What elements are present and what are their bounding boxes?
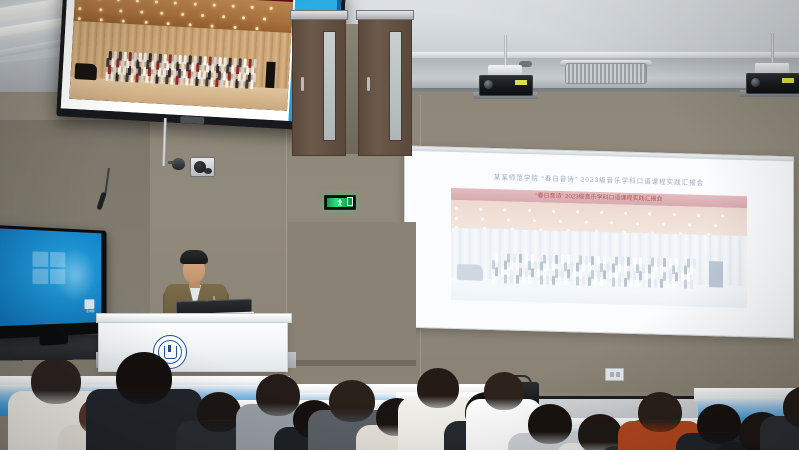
stage-light-dot bbox=[455, 207, 458, 210]
stage-light-dot bbox=[648, 212, 651, 215]
logo-pane bbox=[33, 269, 49, 284]
stage-light-dot bbox=[233, 26, 236, 29]
exit-sign-glow bbox=[327, 198, 353, 207]
wall-power-outlet[interactable] bbox=[605, 368, 624, 381]
choir-member bbox=[549, 255, 552, 264]
audience-member bbox=[760, 386, 799, 450]
security-camera-icon bbox=[172, 158, 185, 170]
exit-door-icon bbox=[347, 197, 353, 206]
outlet-slot bbox=[610, 372, 614, 377]
choir-member bbox=[561, 255, 564, 264]
audience-member-head bbox=[116, 352, 172, 404]
choir-member bbox=[507, 253, 510, 262]
stage-light-dot bbox=[155, 0, 158, 3]
projector-lens-icon bbox=[751, 78, 760, 87]
stage-light-dot bbox=[78, 17, 81, 20]
choir-member bbox=[681, 258, 684, 267]
stage-light-dot bbox=[507, 218, 510, 221]
monitor-stand bbox=[39, 335, 68, 346]
speaker-tweeter bbox=[204, 168, 212, 174]
stage-light-dot bbox=[688, 223, 691, 226]
stage-light-dot bbox=[600, 211, 603, 214]
choir-member bbox=[531, 254, 534, 263]
stage-light-dot bbox=[479, 208, 482, 211]
stage-light-dot bbox=[140, 11, 143, 14]
choir-member bbox=[663, 258, 666, 267]
stage-light-dot bbox=[624, 212, 627, 215]
stage-light-dot bbox=[212, 4, 215, 7]
stage-light-dot bbox=[166, 22, 169, 25]
stage-light-dot bbox=[136, 0, 139, 2]
stage-light-dot bbox=[193, 2, 196, 5]
lectern-top bbox=[96, 313, 292, 323]
choir-member bbox=[591, 256, 594, 265]
choir-member bbox=[543, 254, 546, 263]
stage-light-dot bbox=[174, 1, 177, 4]
choir-member bbox=[555, 255, 558, 264]
stage-light-dot bbox=[585, 221, 588, 224]
stage-light-dot bbox=[610, 221, 613, 224]
door-closer-right bbox=[356, 10, 414, 20]
wall-speaker-icon bbox=[190, 157, 215, 177]
stage-light-dot bbox=[503, 208, 506, 211]
stage-light-dot bbox=[455, 217, 458, 220]
stage-light-dot bbox=[559, 220, 562, 223]
choir-member bbox=[633, 257, 636, 266]
projector-lens-icon bbox=[484, 80, 493, 89]
exit-sign bbox=[324, 195, 356, 210]
desktop-icon-this-pc[interactable]: 此电脑 bbox=[85, 299, 97, 314]
stage-light-dot bbox=[100, 18, 103, 21]
logo-pane bbox=[50, 269, 65, 284]
choir-member bbox=[615, 256, 618, 265]
projector-pole bbox=[771, 33, 774, 67]
screen-choir-group bbox=[492, 249, 705, 289]
door-wall bbox=[288, 222, 416, 377]
choir-member bbox=[585, 256, 588, 265]
slide-piano bbox=[74, 63, 97, 80]
slide-stage-speaker bbox=[265, 62, 275, 88]
door-handle[interactable] bbox=[367, 77, 370, 91]
projector-label bbox=[782, 78, 794, 83]
stage-light-dot bbox=[721, 214, 724, 217]
choir-member bbox=[693, 259, 696, 268]
screen-photo: “春日音诗” 2023级音乐学科口语课程实践汇报会 bbox=[451, 188, 747, 308]
stage-light-dot bbox=[714, 224, 717, 227]
classroom-touch-display[interactable]: 此电脑 bbox=[0, 225, 107, 339]
outlet-slot bbox=[616, 372, 620, 377]
desktop-icon-label: 此电脑 bbox=[85, 309, 97, 313]
projector-body bbox=[479, 75, 533, 96]
projector-body bbox=[746, 73, 799, 94]
stage-light-dot bbox=[697, 214, 700, 217]
choir-member bbox=[567, 255, 570, 264]
windows-logo-icon bbox=[33, 252, 66, 285]
choir-member bbox=[603, 256, 606, 265]
choir-member bbox=[254, 59, 257, 68]
choir-member bbox=[657, 258, 660, 267]
monitor-screen[interactable]: 此电脑 bbox=[0, 228, 101, 326]
projector-pole bbox=[504, 35, 507, 69]
choir-member bbox=[597, 256, 600, 265]
choir-member bbox=[621, 257, 624, 266]
stage-light-dot bbox=[673, 213, 676, 216]
projection-screen: 某某师范学院 “春日音诗” 2023级音乐学科口语课程实践汇报会 “春日音诗” … bbox=[404, 146, 794, 339]
choir-member bbox=[495, 253, 498, 262]
audience-member-head bbox=[197, 392, 241, 432]
logo-pane bbox=[33, 252, 49, 268]
choir-member bbox=[651, 257, 654, 266]
presenter-cap bbox=[180, 250, 208, 264]
running-person-icon bbox=[337, 199, 343, 206]
choir-member bbox=[645, 257, 648, 266]
stage-light-dot bbox=[481, 218, 484, 221]
choir-member bbox=[627, 257, 630, 266]
choir-member bbox=[669, 258, 672, 267]
stage-light-dot bbox=[552, 210, 555, 213]
stage-light-dot bbox=[211, 25, 214, 28]
choir-member bbox=[501, 253, 504, 262]
choir-member bbox=[513, 254, 516, 263]
choir-member bbox=[525, 254, 528, 263]
screen-stage-speaker bbox=[709, 261, 723, 287]
stage-light-dot bbox=[528, 209, 531, 212]
logo-pane bbox=[50, 252, 65, 267]
stage-light-dot bbox=[122, 20, 125, 23]
stage-light-dot bbox=[119, 9, 122, 12]
stage-light-dot bbox=[117, 0, 120, 1]
slide-photo: “春日音诗” 2023级教育实践汇报演出 bbox=[69, 0, 293, 111]
door-handle[interactable] bbox=[301, 77, 304, 91]
stage-light-dot bbox=[181, 13, 184, 16]
stage-light-dot bbox=[255, 27, 258, 30]
stage-light-dot bbox=[231, 5, 234, 8]
this-pc-icon bbox=[85, 299, 95, 309]
stage-light-dot bbox=[662, 223, 665, 226]
projector-label bbox=[515, 80, 527, 85]
stage-light-dot bbox=[262, 17, 265, 20]
stage-light-dot bbox=[533, 219, 536, 222]
door-shadow bbox=[288, 360, 416, 366]
lecture-hall-scene: 某某师范学院 “春日音诗” 2023级音乐学科口语课程实践汇报会 “春日音诗” … bbox=[0, 0, 799, 450]
screen-piano bbox=[457, 264, 483, 281]
screen-title-text: 某某师范学院 “春日音诗” 2023级音乐学科口语课程实践汇报会 bbox=[405, 169, 793, 190]
door-gap bbox=[344, 24, 358, 154]
door-left[interactable] bbox=[292, 14, 346, 156]
projector-left bbox=[470, 35, 540, 105]
tv-mount-knob bbox=[180, 116, 204, 124]
stage-light-dot bbox=[189, 23, 192, 26]
stage-light-dot bbox=[576, 210, 579, 213]
choir-member bbox=[675, 258, 678, 267]
projector-right bbox=[737, 33, 799, 103]
door-glass-panel bbox=[389, 31, 402, 141]
air-vent-icon bbox=[565, 63, 647, 84]
choir-member bbox=[579, 255, 582, 264]
choir-member bbox=[693, 273, 696, 282]
stage-light-dot bbox=[99, 8, 102, 11]
stage-light-dot bbox=[144, 21, 147, 24]
choir-member bbox=[609, 256, 612, 265]
door-closer-left bbox=[290, 10, 348, 20]
choir-member bbox=[573, 255, 576, 264]
stage-light-dot bbox=[269, 7, 272, 10]
choir-member bbox=[639, 257, 642, 266]
stage-light-dot bbox=[242, 16, 245, 19]
stage-light-dot bbox=[201, 14, 204, 17]
choir-member bbox=[519, 254, 522, 263]
door-right[interactable] bbox=[358, 14, 412, 156]
stage-light-dot bbox=[636, 222, 639, 225]
choir-member bbox=[537, 254, 540, 263]
door-glass-panel bbox=[323, 31, 336, 141]
screen-stage-lights bbox=[451, 207, 747, 218]
stage-light-dot bbox=[160, 12, 163, 15]
stage-light-dot bbox=[222, 15, 225, 18]
stage-light-dot bbox=[250, 6, 253, 9]
stage-light-dot bbox=[78, 7, 81, 10]
choir-member bbox=[687, 258, 690, 267]
